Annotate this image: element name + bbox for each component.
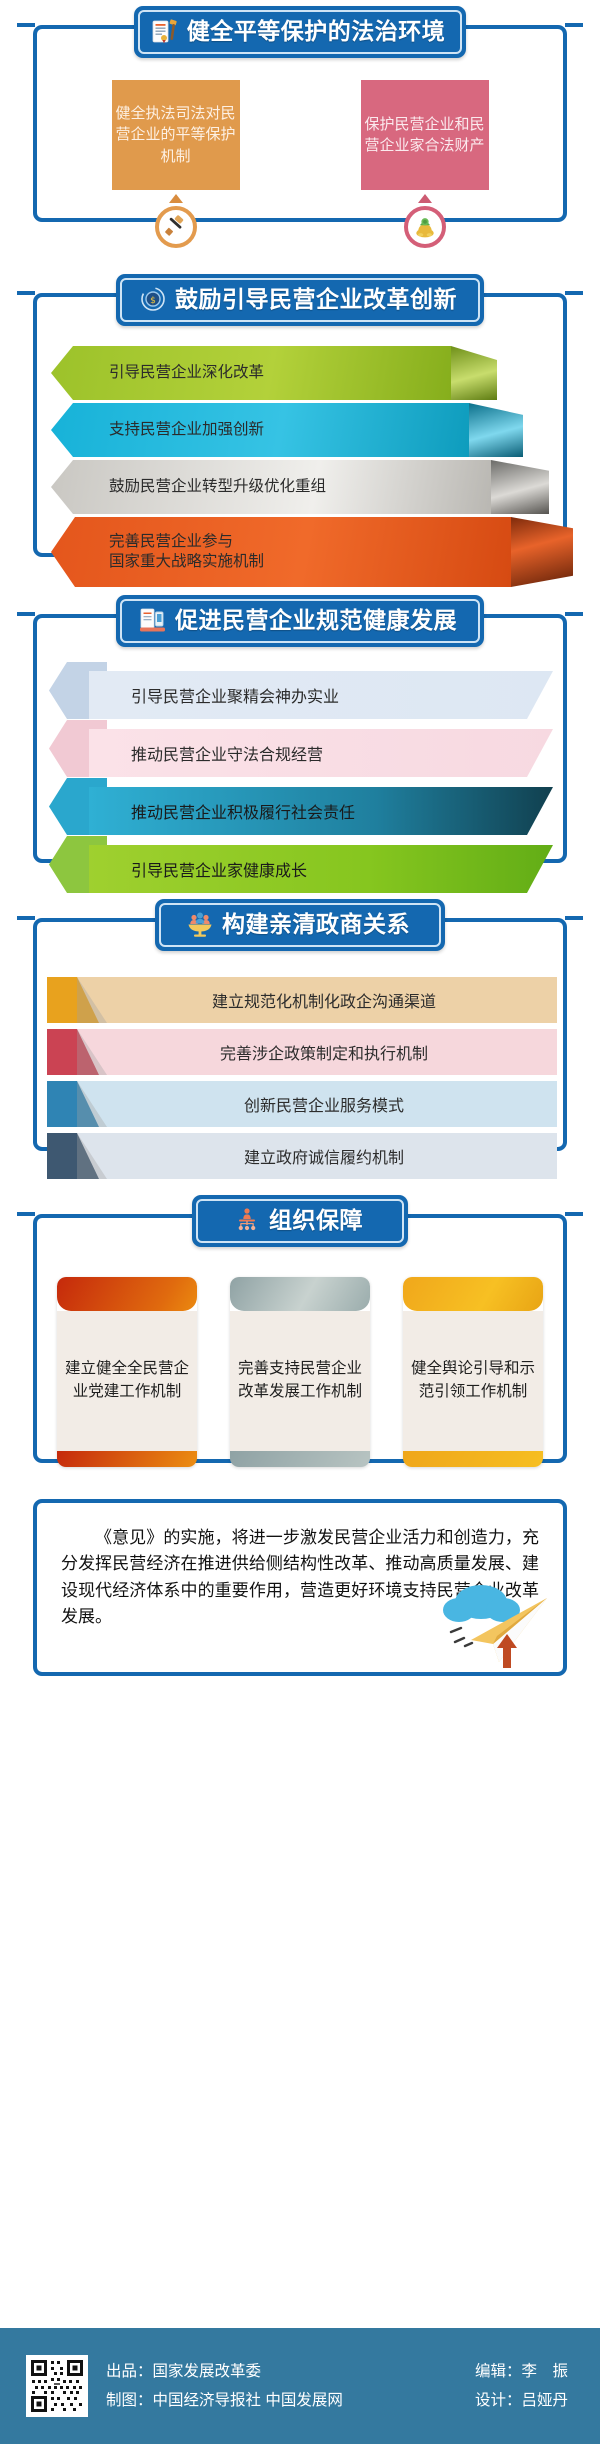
funnel-layer-label: 完善民营企业参与 国家重大战略实施机制 xyxy=(51,517,511,587)
funnel-layer-side xyxy=(469,403,523,457)
footer-designer-value: 吕娅丹 xyxy=(521,2392,568,2409)
footer-editor-row: 编辑：李 振 xyxy=(475,2357,568,2386)
capsule-label: 完善支持民营企业改革发展工作机制 xyxy=(230,1311,370,1451)
section-title: 健全平等保护的法治环境 xyxy=(187,20,446,43)
footer-producer-label: 出品： xyxy=(106,2363,153,2380)
arrow-up-icon xyxy=(169,194,183,203)
footer-graphics-value: 中国经济导报社 中国发展网 xyxy=(153,2392,343,2409)
bar-list: 建立规范化机制化政企沟通渠道 完善涉企政策制定和执行机制 创新民营企业服务模式 … xyxy=(17,951,583,1199)
section-body: 健全执法司法对民营企业的平等保护机制 保护民营企业和民营企业家合法财产 xyxy=(17,58,583,248)
qr-code-icon[interactable] xyxy=(26,2355,88,2417)
funnel-layer-label: 支持民营企业加强创新 xyxy=(51,403,469,457)
money-bag-icon xyxy=(412,214,438,240)
arrow-up-icon xyxy=(418,194,432,203)
footer-producer-value: 国家发展改革委 xyxy=(153,2363,262,2380)
frame-notch-right xyxy=(565,612,583,616)
frame-notch-left xyxy=(17,291,35,295)
funnel-chart: 引导民营企业深化改革 支持民营企业加强创新 鼓励民营企业转型升级优化重组 完善民… xyxy=(17,326,583,604)
footer-right-column: 编辑：李 振 设计：吕娅丹 xyxy=(475,2357,574,2416)
section-title: 组织保障 xyxy=(269,1209,363,1232)
bar-label: 建立政府诚信履约机制 xyxy=(47,1133,557,1179)
bar-item[interactable]: 建立规范化机制化政企沟通渠道 xyxy=(47,977,557,1023)
section-header-legal-environment[interactable]: 健全平等保护的法治环境 xyxy=(134,6,466,58)
capsule-top-cap xyxy=(403,1277,543,1311)
legal-card-text: 健全执法司法对民营企业的平等保护机制 xyxy=(112,80,240,190)
frame-notch-left xyxy=(17,916,35,920)
ribbon-label: 推动民营企业积极履行社会责任 xyxy=(89,787,553,835)
svg-text:$: $ xyxy=(150,296,156,306)
gavel-icon xyxy=(163,214,189,240)
capsule-top-cap xyxy=(230,1277,370,1311)
bar-item[interactable]: 创新民营企业服务模式 xyxy=(47,1081,557,1127)
ribbon-list: 引导民营企业聚精会神办实业 推动民营企业守法合规经营 推动民营企业积极履行社会责… xyxy=(17,647,583,915)
ribbon-label: 推动民营企业守法合规经营 xyxy=(89,729,553,777)
capsule-card[interactable]: 健全舆论引导和示范引领工作机制 xyxy=(403,1277,543,1467)
section-header-healthy-development[interactable]: 促进民营企业规范健康发展 xyxy=(116,595,484,647)
document-gavel-icon xyxy=(151,17,179,45)
section-header-organizational-guarantee[interactable]: 组织保障 xyxy=(192,1195,408,1247)
capsule-top-cap xyxy=(57,1277,197,1311)
capsule-label: 建立健全全民营企业党建工作机制 xyxy=(57,1311,197,1451)
funnel-layer-side xyxy=(491,460,549,514)
funnel-layer[interactable]: 完善民营企业参与 国家重大战略实施机制 xyxy=(51,517,553,587)
frame-notch-right xyxy=(565,916,583,920)
capsule-row: 建立健全全民营企业党建工作机制 完善支持民营企业改革发展工作机制 健全舆论引导和… xyxy=(17,1247,583,1493)
bar-label: 创新民营企业服务模式 xyxy=(47,1081,557,1127)
ribbon-label: 引导民营企业家健康成长 xyxy=(89,845,553,893)
clipboard-phone-icon xyxy=(139,606,167,634)
ribbon-item[interactable]: 引导民营企业聚精会神办实业 xyxy=(49,671,553,719)
frame-notch-right xyxy=(565,291,583,295)
funnel-layer[interactable]: 支持民营企业加强创新 xyxy=(51,403,553,457)
org-chart-icon xyxy=(233,1206,261,1234)
section-organizational-guarantee: 组织保障 建立健全全民营企业党建工作机制 完善支持民营企业改革发展工作机制 健全… xyxy=(17,1195,583,1463)
section-gov-business-relations: 构建亲清政商关系 建立规范化机制化政企沟通渠道 完善涉企政策制定和执行机制 创新… xyxy=(17,899,583,1151)
ribbon-label: 引导民营企业聚精会神办实业 xyxy=(89,671,553,719)
capsule-bottom-cap xyxy=(230,1451,370,1467)
ribbon-item[interactable]: 引导民营企业家健康成长 xyxy=(49,845,553,893)
paper-plane-cloud-icon xyxy=(437,1576,557,1668)
frame-notch-left xyxy=(17,23,35,27)
footer-graphics-label: 制图： xyxy=(106,2392,153,2409)
capsule-card[interactable]: 建立健全全民营企业党建工作机制 xyxy=(57,1277,197,1467)
legal-card[interactable]: 保护民营企业和民营企业家合法财产 xyxy=(361,80,489,248)
legal-card-text: 保护民营企业和民营企业家合法财产 xyxy=(361,80,489,190)
bar-item[interactable]: 建立政府诚信履约机制 xyxy=(47,1133,557,1179)
section-healthy-development: 促进民营企业规范健康发展 引导民营企业聚精会神办实业 推动民营企业守法合规经营 … xyxy=(17,595,583,863)
coin-refresh-icon: $ xyxy=(139,285,167,313)
section-reform-innovation: $ 鼓励引导民营企业改革创新 引导民营企业深化改革 支持民营企业加强创新 鼓励民… xyxy=(17,274,583,557)
gavel-icon-badge xyxy=(155,206,197,248)
money-bag-icon-badge xyxy=(404,206,446,248)
footer-left-column: 出品：国家发展改革委 制图：中国经济导报社 中国发展网 xyxy=(106,2357,343,2416)
people-table-icon xyxy=(186,910,214,938)
frame-notch-left xyxy=(17,1212,35,1216)
funnel-layer-label: 鼓励民营企业转型升级优化重组 xyxy=(51,460,491,514)
frame-notch-right xyxy=(565,23,583,27)
bar-label: 建立规范化机制化政企沟通渠道 xyxy=(47,977,557,1023)
section-header-reform-innovation[interactable]: $ 鼓励引导民营企业改革创新 xyxy=(116,274,484,326)
frame-notch-right xyxy=(565,1212,583,1216)
section-title: 鼓励引导民营企业改革创新 xyxy=(175,288,457,311)
footer-bar: 出品：国家发展改革委 制图：中国经济导报社 中国发展网 编辑：李 振 设计：吕娅… xyxy=(0,2328,600,2444)
footer-producer-row: 出品：国家发展改革委 xyxy=(106,2357,343,2386)
bar-item[interactable]: 完善涉企政策制定和执行机制 xyxy=(47,1029,557,1075)
footer-designer-label: 设计： xyxy=(475,2392,522,2409)
funnel-layer-label: 引导民营企业深化改革 xyxy=(51,346,451,400)
capsule-bottom-cap xyxy=(403,1451,543,1467)
ribbon-item[interactable]: 推动民营企业守法合规经营 xyxy=(49,729,553,777)
section-title: 构建亲清政商关系 xyxy=(222,913,410,936)
section-header-gov-business-relations[interactable]: 构建亲清政商关系 xyxy=(155,899,445,951)
section-title: 促进民营企业规范健康发展 xyxy=(175,609,457,632)
ribbon-item[interactable]: 推动民营企业积极履行社会责任 xyxy=(49,787,553,835)
footer-credits: 出品：国家发展改革委 制图：中国经济导报社 中国发展网 编辑：李 振 设计：吕娅… xyxy=(106,2357,574,2416)
funnel-layer[interactable]: 引导民营企业深化改革 xyxy=(51,346,553,400)
legal-card[interactable]: 健全执法司法对民营企业的平等保护机制 xyxy=(112,80,240,248)
section-legal-environment: 健全平等保护的法治环境 健全执法司法对民营企业的平等保护机制 保护民营企业和民营… xyxy=(17,6,583,238)
capsule-label: 健全舆论引导和示范引领工作机制 xyxy=(403,1311,543,1451)
bar-label: 完善涉企政策制定和执行机制 xyxy=(47,1029,557,1075)
footer-designer-row: 设计：吕娅丹 xyxy=(475,2386,568,2415)
funnel-layer[interactable]: 鼓励民营企业转型升级优化重组 xyxy=(51,460,553,514)
footer-graphics-row: 制图：中国经济导报社 中国发展网 xyxy=(106,2386,343,2415)
funnel-layer-side xyxy=(511,517,573,587)
legal-cards-row: 健全执法司法对民营企业的平等保护机制 保护民营企业和民营企业家合法财产 xyxy=(51,58,549,248)
footer-editor-label: 编辑： xyxy=(475,2363,522,2380)
capsule-bottom-cap xyxy=(57,1451,197,1467)
funnel-layer-side xyxy=(451,346,497,400)
footer-editor-value: 李 振 xyxy=(521,2363,568,2380)
capsule-card[interactable]: 完善支持民营企业改革发展工作机制 xyxy=(230,1277,370,1467)
summary-box: 《意见》的实施，将进一步激发民营企业活力和创造力，充分发挥民营经济在推进供给侧结… xyxy=(33,1499,567,1676)
frame-notch-left xyxy=(17,612,35,616)
